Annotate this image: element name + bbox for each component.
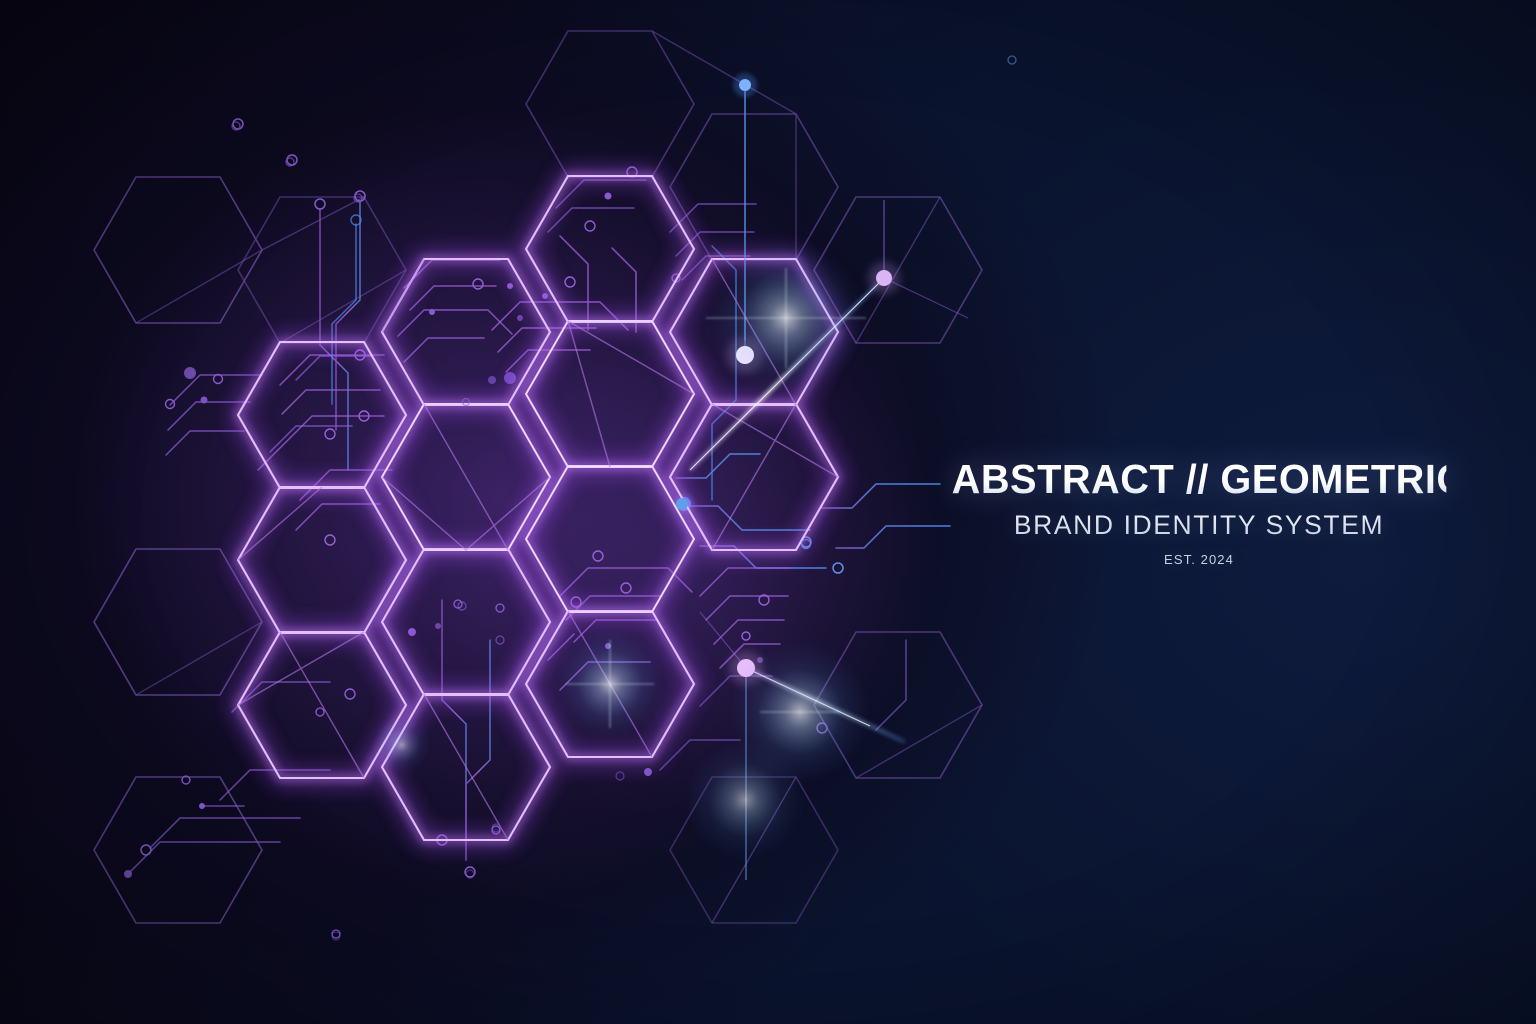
circuit-pad-icon [757, 657, 763, 663]
circuit-pad-icon [517, 315, 523, 321]
established-label: EST. 2024 [944, 552, 1454, 567]
circuit-pad-icon [507, 283, 513, 289]
brand-lockup: ABSTRACT // GEOMETRIC BRAND IDENTITY SYS… [944, 458, 1454, 567]
page-subtitle: BRAND IDENTITY SYSTEM [944, 510, 1454, 541]
circuit-pad-icon [644, 768, 652, 776]
circuit-pad-icon [201, 397, 208, 404]
circuit-pad-icon [429, 309, 435, 315]
poster-canvas: ABSTRACT // GEOMETRIC BRAND IDENTITY SYS… [0, 0, 1536, 1024]
circuit-pad-icon [435, 623, 441, 629]
circuit-pad-icon [504, 372, 516, 384]
network-node-icon [739, 79, 751, 91]
circuit-pad-icon [184, 367, 196, 379]
circuit-pad-icon [605, 193, 612, 200]
network-node-icon [676, 498, 688, 510]
network-node-icon [876, 270, 892, 286]
circuit-pad-icon [408, 628, 416, 636]
circuit-pad-icon [199, 803, 205, 809]
circuit-pad-icon [488, 376, 496, 384]
circuit-pad-icon [1008, 56, 1016, 64]
circuit-pad-icon [124, 870, 132, 878]
page-title: ABSTRACT // GEOMETRIC [952, 458, 1447, 501]
circuit-pad-icon [141, 845, 151, 855]
